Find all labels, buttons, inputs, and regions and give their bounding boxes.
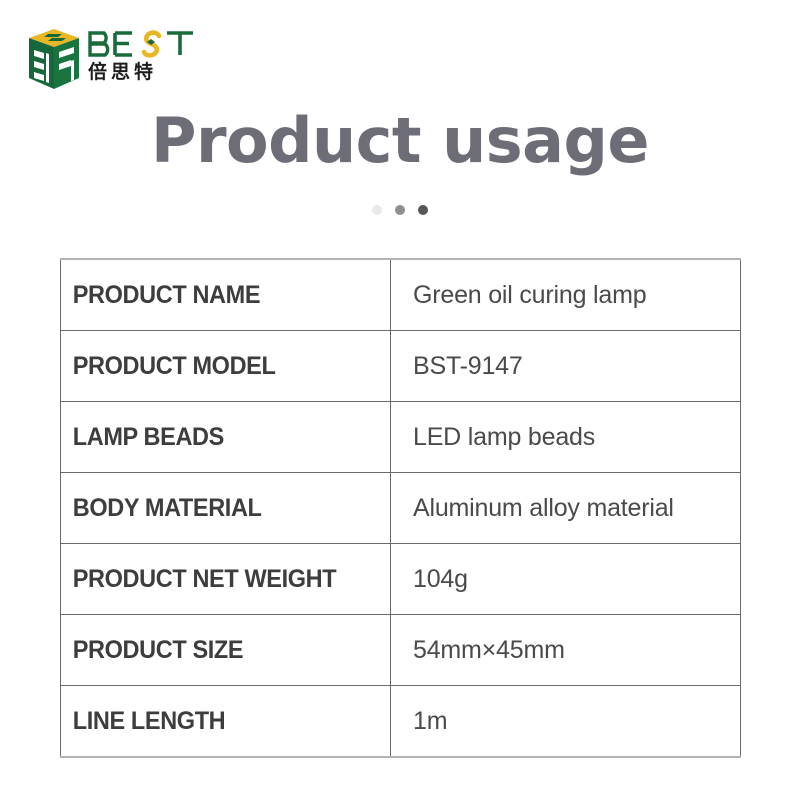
- spec-key: LAMP BEADS: [61, 402, 371, 473]
- spec-key: LINE LENGTH: [61, 686, 371, 758]
- spec-value: LED lamp beads: [391, 402, 741, 473]
- table-row: LAMP BEADS LED lamp beads: [61, 402, 741, 473]
- spec-key: BODY MATERIAL: [61, 473, 371, 544]
- table-row: LINE LENGTH 1m: [61, 686, 741, 758]
- page-title: Product usage: [0, 104, 800, 178]
- spec-key: PRODUCT NAME: [61, 259, 371, 331]
- best-wordmark-icon: [88, 30, 198, 60]
- spec-key: PRODUCT SIZE: [61, 615, 371, 686]
- product-usage-page: 倍思特 Product usage PRODUCT NAME Green oil…: [0, 0, 800, 800]
- table-row: PRODUCT NET WEIGHT 104g: [61, 544, 741, 615]
- pagination-dot-3[interactable]: [418, 205, 428, 215]
- spec-value: 104g: [391, 544, 741, 615]
- pagination-dot-2[interactable]: [395, 205, 405, 215]
- spec-value: BST-9147: [391, 331, 741, 402]
- spec-key: PRODUCT NET WEIGHT: [61, 544, 371, 615]
- spec-value: 54mm×45mm: [391, 615, 741, 686]
- table-row: BODY MATERIAL Aluminum alloy material: [61, 473, 741, 544]
- spec-value: 1m: [391, 686, 741, 758]
- spec-key: PRODUCT MODEL: [61, 331, 371, 402]
- brand-logo: 倍思特: [28, 28, 198, 90]
- table-row: PRODUCT SIZE 54mm×45mm: [61, 615, 741, 686]
- spec-table-body: PRODUCT NAME Green oil curing lamp PRODU…: [61, 259, 741, 757]
- spec-value: Green oil curing lamp: [391, 259, 741, 331]
- brand-text-block: 倍思特: [88, 28, 198, 83]
- pagination-dot-1[interactable]: [372, 205, 382, 215]
- best-cube-logo-icon: [28, 28, 80, 90]
- brand-chinese-name: 倍思特: [88, 61, 198, 83]
- product-spec-table: PRODUCT NAME Green oil curing lamp PRODU…: [60, 258, 741, 758]
- table-row: PRODUCT MODEL BST-9147: [61, 331, 741, 402]
- spec-value: Aluminum alloy material: [391, 473, 741, 544]
- table-row: PRODUCT NAME Green oil curing lamp: [61, 259, 741, 331]
- pagination-dots: [0, 205, 800, 215]
